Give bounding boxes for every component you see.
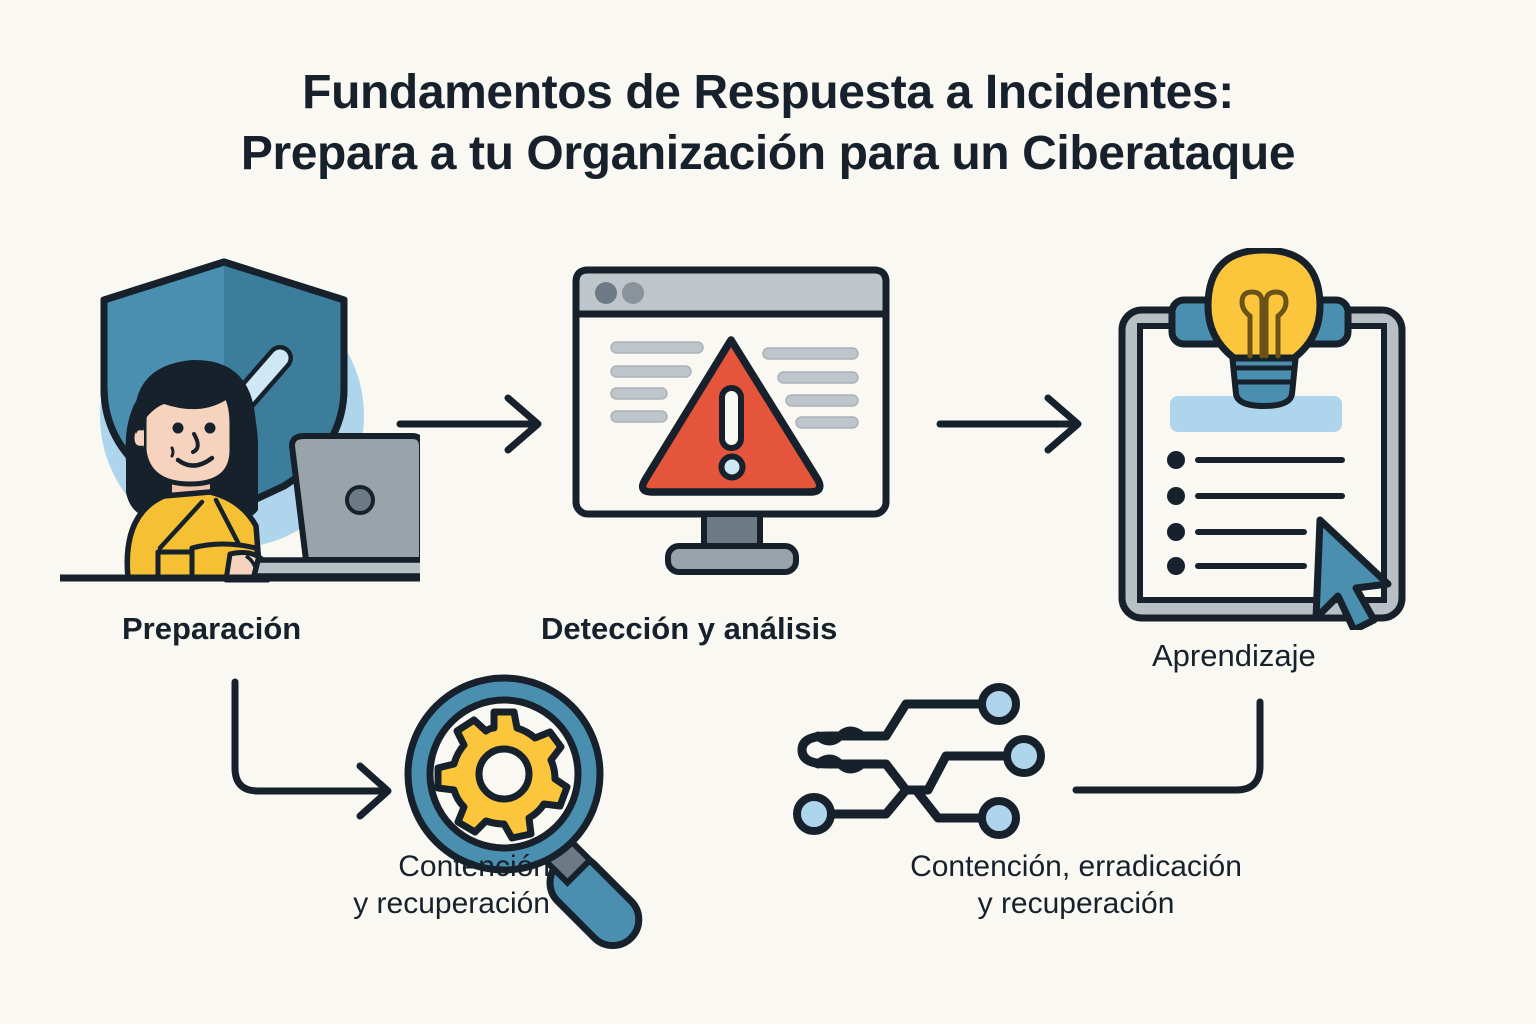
stage-label-aprendizaje: Aprendizaje [1152, 637, 1316, 675]
title-line-1: Fundamentos de Respuesta a Incidentes: [0, 62, 1536, 123]
infographic-canvas: Fundamentos de Respuesta a Incidentes: P… [0, 0, 1536, 1024]
stage-label-preparacion: Preparación [122, 610, 301, 648]
arrow-right-icon [392, 388, 554, 460]
person-at-laptop-with-shield-icon [60, 248, 420, 598]
arrow-right-icon [932, 388, 1094, 460]
stage-label-contencion-recuperacion: Contención y recuperación [168, 849, 550, 922]
stage-label-contencion-erradicacion-recuperacion: Contención, erradicación y recuperación [826, 849, 1326, 922]
page-title: Fundamentos de Respuesta a Incidentes: P… [0, 62, 1536, 185]
elbow-arrow-down-right-icon [198, 648, 422, 832]
monitor-warning-alert-icon [556, 262, 906, 580]
clipboard-lightbulb-checklist-icon [1108, 248, 1420, 630]
network-nodes-icon [788, 678, 1050, 850]
stage-label-deteccion: Detección y análisis [541, 610, 837, 648]
title-line-2: Prepara a tu Organización para un Cibera… [0, 123, 1536, 184]
elbow-line-right-up-icon [1058, 658, 1292, 822]
